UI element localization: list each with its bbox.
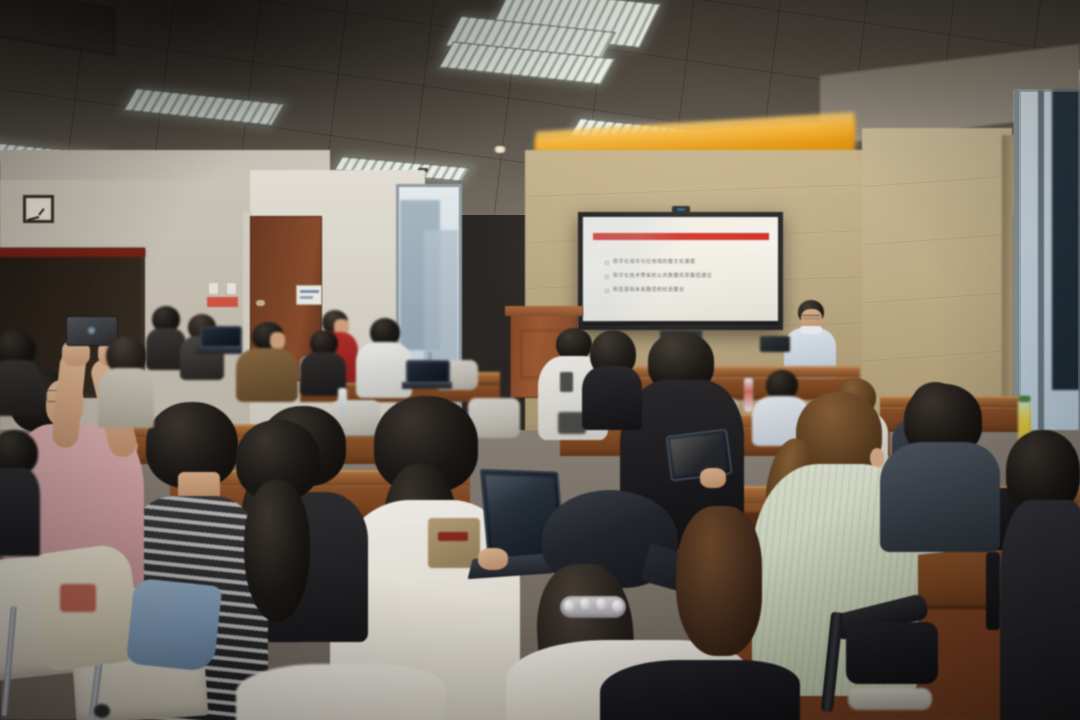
draped-denim-jacket [126,578,223,673]
attendee-white-scrunchie [218,420,338,630]
office-chair-base [848,688,932,710]
attendee-torso [98,368,154,428]
attendee-hand [478,548,508,570]
hair-tie-bead [612,600,623,612]
attendee-face [270,332,285,349]
attendee-torso [1000,500,1080,720]
jacket-print [60,584,96,612]
dark-panel-red-trim [0,248,145,257]
jacket-patch-logo [438,532,468,541]
attendee-brown-shirt [236,322,298,400]
door-handle-icon[interactable] [256,300,265,306]
attendee-ponytail [244,480,310,622]
presenter-laptop [760,336,790,352]
attendee-torso [0,468,40,556]
cap-button-icon [602,496,614,506]
wall-sign [226,282,237,295]
attendee-dark-navy-right [880,384,1000,544]
office-chair-seat [846,622,938,684]
presenter-collar [800,326,822,334]
clock-minute-hand [27,217,39,222]
attendee-back-left-pale [98,336,154,422]
wall-sign [208,282,219,295]
wall-sign-red-banner [207,297,238,307]
bottle-cap-icon [1019,396,1030,402]
attendee-right-edge [1000,430,1080,720]
shirt-letter-r [560,372,573,392]
attendee-far-left-edge [0,330,40,410]
chair-caster-icon [94,704,110,718]
laptop-base [402,382,452,389]
hair-tie-bead [564,600,575,612]
presenter-glasses-icon [802,315,820,319]
lecture-hall-photo: 数字化城市与社地境的整文化遵循 数字化技术带来的公共数据共享路径通过 新型基础未… [0,0,1080,720]
wall-clock [23,195,54,223]
attendee-hand [700,468,726,488]
foreground-dark-mass [600,660,800,720]
hair-tie-bead [596,598,607,610]
attendee-dark-back [300,330,346,392]
attendee-torso [236,348,298,402]
display-glare [583,218,778,322]
door-notice-sign [296,285,322,305]
attendee-brown-hair-behind [676,506,762,656]
lectern-top [505,306,583,316]
attendee-dark-head [582,330,642,426]
bag-strap [986,552,1000,630]
laptop[interactable] [200,326,242,348]
foreground-shoulder [236,664,446,720]
hair-tie-bead [580,598,591,610]
clock-hour-hand [39,208,46,216]
attendee-torso [880,442,1000,552]
clock-face [29,201,48,217]
attendee-torso [0,360,40,416]
attendee-far-left-edge [0,430,40,550]
laptop[interactable] [406,360,450,384]
attendee-torso [582,366,642,430]
attendee-torso [356,342,412,398]
